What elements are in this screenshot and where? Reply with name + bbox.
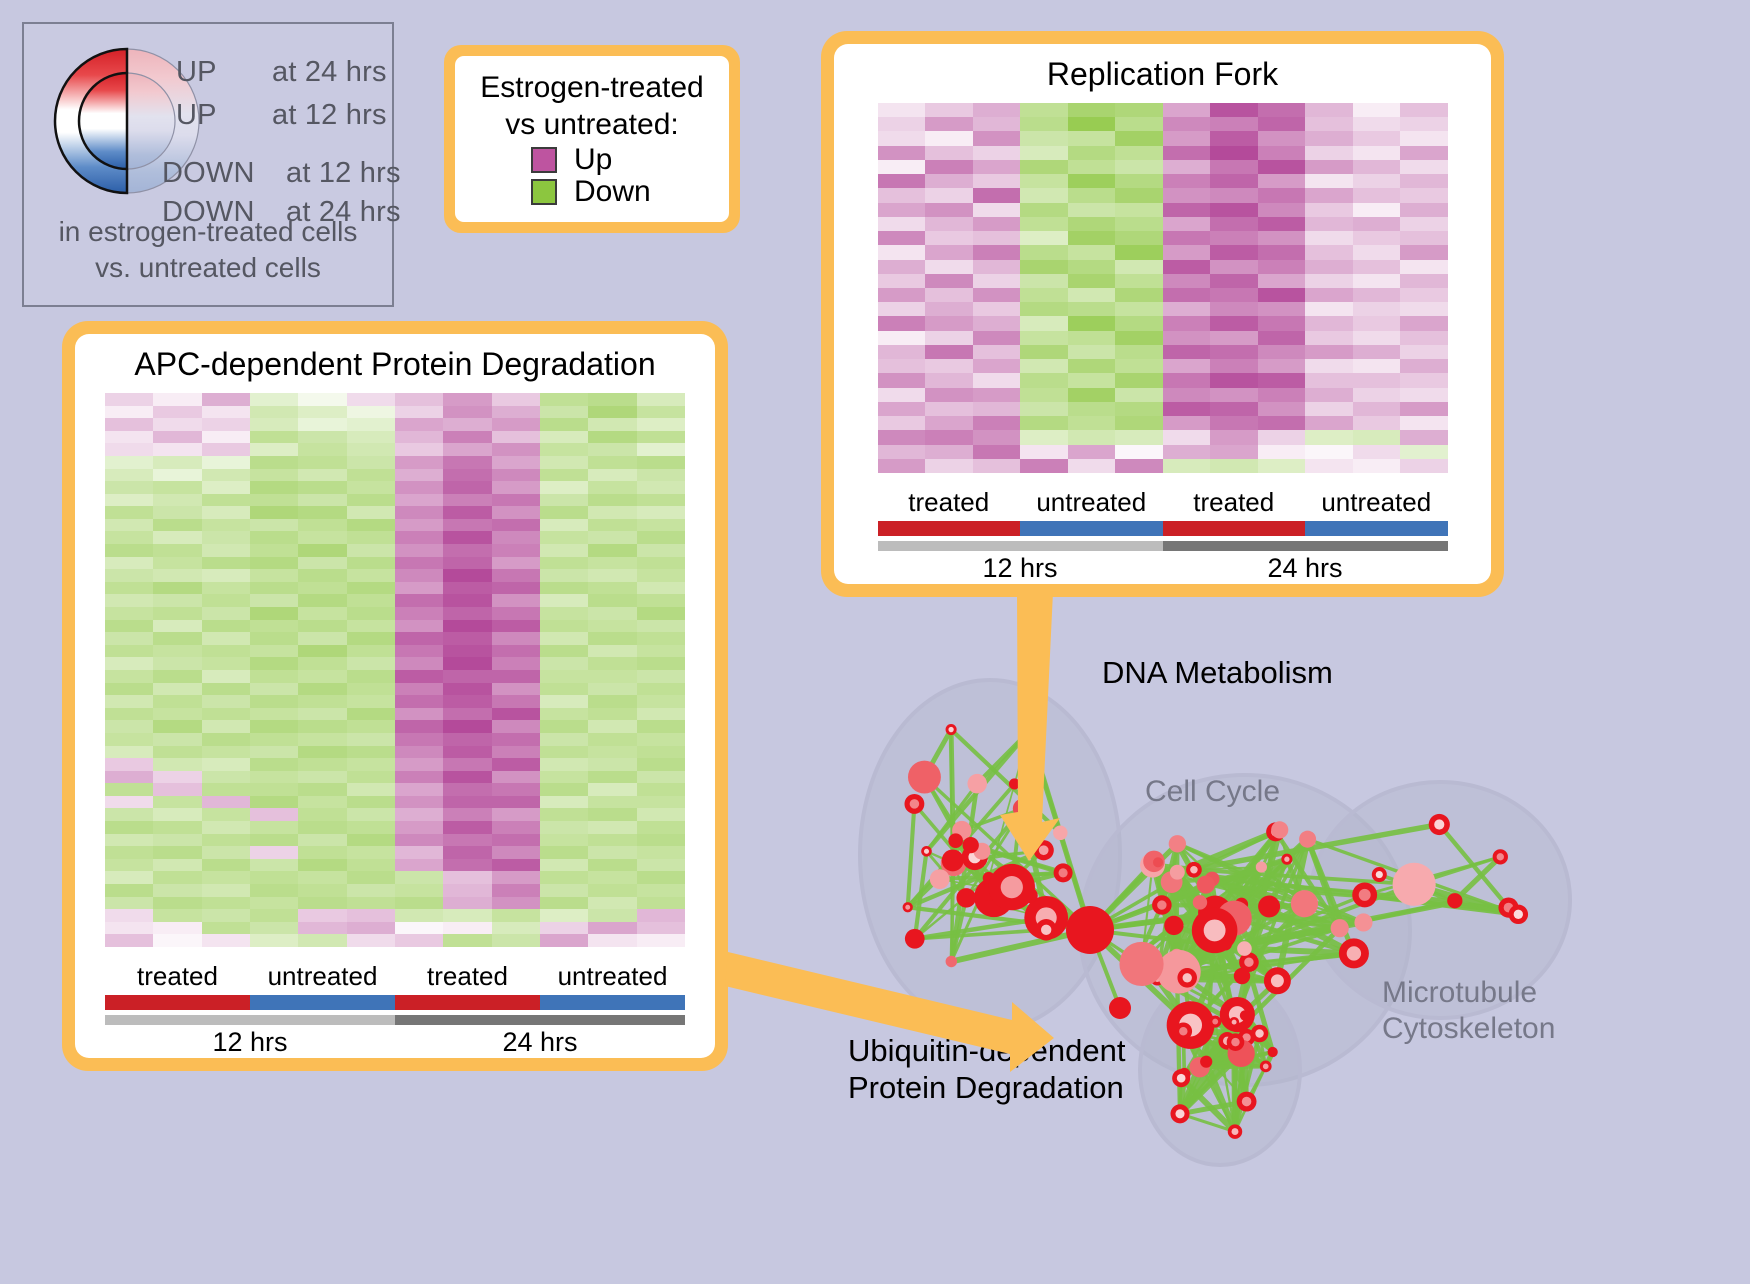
heatmap-cell (1020, 331, 1068, 345)
heatmap-cell (1115, 131, 1163, 145)
network-node-core (1232, 1020, 1237, 1025)
heatmap-cell (105, 909, 153, 922)
heatmap-cell (1305, 217, 1353, 231)
heatmap-cell (1163, 416, 1211, 430)
color-key-footnote-line2: vs. untreated cells (24, 250, 392, 286)
heatmap-cell (250, 506, 298, 519)
heatmap-cell (347, 431, 395, 444)
heatmap-cell (1210, 288, 1258, 302)
network-node (1234, 968, 1250, 984)
heatmap-cell (1305, 103, 1353, 117)
heatmap-cell (250, 632, 298, 645)
heatmap-cell (925, 131, 973, 145)
heatmap-cell (1115, 174, 1163, 188)
heatmap-cell (202, 859, 250, 872)
heatmap-cell (1115, 117, 1163, 131)
heatmap-cell (540, 695, 588, 708)
heatmap-replication-fork (878, 103, 1448, 473)
heatmap-cell (1068, 288, 1116, 302)
heatmap-cell (347, 796, 395, 809)
heatmap-cell (347, 834, 395, 847)
heatmap-cell (1068, 388, 1116, 402)
heatmap-cell (878, 203, 926, 217)
heatmap-cell (347, 683, 395, 696)
heatmap-cell (588, 771, 636, 784)
heatmap-cell (1163, 203, 1211, 217)
heatmap-cell (153, 393, 201, 406)
heatmap-cell (395, 607, 443, 620)
condition-label-rf-2: treated (1163, 487, 1306, 518)
heatmap-cell (637, 909, 685, 922)
heatmap-cell (1400, 416, 1448, 430)
heatmap-cell (540, 582, 588, 595)
heatmap-cell (105, 720, 153, 733)
heatmap-cell (973, 373, 1021, 387)
heatmap-cell (395, 846, 443, 859)
heatmap-cell (492, 418, 540, 431)
heatmap-cell (540, 922, 588, 935)
network-node (1256, 861, 1267, 872)
heatmap-cell (153, 720, 201, 733)
heatmap-cell (540, 494, 588, 507)
heatmap-cell (1163, 359, 1211, 373)
network-node (905, 929, 925, 949)
heatmap-cell (298, 695, 346, 708)
heatmap-cell (1068, 274, 1116, 288)
heatmap-cell (1163, 231, 1211, 245)
heatmap-cell (1020, 359, 1068, 373)
network-node-core (1190, 866, 1198, 874)
heatmap-cell (298, 922, 346, 935)
heatmap-cell (347, 897, 395, 910)
legend-title-line2: vs untreated: (465, 107, 719, 144)
heatmap-cell (540, 783, 588, 796)
heatmap-cell (298, 733, 346, 746)
condition-label-apc-0: treated (105, 961, 250, 992)
heatmap-cell (492, 582, 540, 595)
heatmap-cell (202, 846, 250, 859)
heatmap-cell (395, 418, 443, 431)
heatmap-cell (878, 103, 926, 117)
condition-bar-apc-1 (250, 995, 395, 1010)
heatmap-cell (925, 416, 973, 430)
heatmap-cell (878, 445, 926, 459)
heatmap-cell (443, 469, 491, 482)
time-bar-rf-12 (878, 541, 1163, 551)
heatmap-cell (1210, 231, 1258, 245)
time-bar-rf-24 (1163, 541, 1448, 551)
heatmap-cell (250, 871, 298, 884)
heatmap-cell (395, 683, 443, 696)
heatmap-cell (878, 316, 926, 330)
heatmap-cell (1068, 245, 1116, 259)
heatmap-cell (1020, 231, 1068, 245)
heatmap-cell (540, 720, 588, 733)
heatmap-cell (973, 103, 1021, 117)
heatmap-cell (973, 459, 1021, 473)
heatmap-cell (1305, 174, 1353, 188)
heatmap-cell (492, 821, 540, 834)
heatmap-cell (540, 443, 588, 456)
heatmap-cell (1353, 402, 1401, 416)
heatmap-cell (105, 683, 153, 696)
heatmap-cell (1068, 231, 1116, 245)
heatmap-cell (1115, 203, 1163, 217)
heatmap-cell (443, 808, 491, 821)
heatmap-cell (492, 456, 540, 469)
time-bar-apc-24 (395, 1015, 685, 1025)
legend-item-up: Up (531, 145, 719, 175)
heatmap-cell (153, 746, 201, 759)
heatmap-cell (492, 494, 540, 507)
cluster-label-ubiquitin-protein-degradation: Ubiquitin-dependent Protein Degradation (848, 1032, 1126, 1106)
heatmap-cell (1020, 174, 1068, 188)
heatmap-cell (105, 897, 153, 910)
heatmap-cell (105, 544, 153, 557)
heatmap-cell (153, 670, 201, 683)
key-time-up-24: at 24 hrs (272, 56, 387, 89)
condition-bar-rf-1 (1020, 521, 1163, 536)
heatmap-cell (395, 481, 443, 494)
heatmap-cell (153, 569, 201, 582)
network-node (1119, 942, 1163, 986)
key-label-down-12: DOWN (162, 157, 255, 190)
heatmap-cell (588, 746, 636, 759)
heatmap-cell (105, 594, 153, 607)
heatmap-cell (1163, 245, 1211, 259)
heatmap-cell (588, 607, 636, 620)
heatmap-cell (395, 531, 443, 544)
heatmap-cell (1210, 445, 1258, 459)
heatmap-cell (588, 582, 636, 595)
time-bar-rf (878, 541, 1448, 551)
network-node (1169, 835, 1186, 852)
heatmap-cell (588, 796, 636, 809)
heatmap-cell (250, 695, 298, 708)
heatmap-cell (298, 746, 346, 759)
heatmap-cell (588, 494, 636, 507)
network-node (1354, 913, 1372, 931)
network-node-core (1376, 871, 1383, 878)
heatmap-cell (153, 406, 201, 419)
heatmap-cell (1258, 146, 1306, 160)
heatmap-cell (153, 620, 201, 633)
heatmap-cell (443, 632, 491, 645)
heatmap-cell (250, 406, 298, 419)
heatmap-cell (443, 871, 491, 884)
heatmap-cell (443, 519, 491, 532)
heatmap-cell (153, 758, 201, 771)
heatmap-cell (153, 683, 201, 696)
heatmap-cell (443, 607, 491, 620)
condition-label-apc-2: treated (395, 961, 540, 992)
heatmap-cell (1258, 445, 1306, 459)
heatmap-cell (540, 746, 588, 759)
heatmap-cell (202, 783, 250, 796)
network-node-core (1175, 1109, 1184, 1118)
heatmap-cell (492, 544, 540, 557)
heatmap-cell (105, 846, 153, 859)
heatmap-cell (1210, 245, 1258, 259)
heatmap-cell (540, 909, 588, 922)
heatmap-cell (1210, 416, 1258, 430)
heatmap-cell (105, 481, 153, 494)
heatmap-cell (878, 302, 926, 316)
heatmap-cell (1068, 160, 1116, 174)
heatmap-cell (1400, 288, 1448, 302)
heatmap-cell (925, 445, 973, 459)
heatmap-cell (1353, 373, 1401, 387)
heatmap-cell (443, 758, 491, 771)
heatmap-cell (588, 708, 636, 721)
heatmap-cell (1400, 131, 1448, 145)
heatmap-cell (540, 708, 588, 721)
heatmap-cell (925, 160, 973, 174)
heatmap-cell (1353, 288, 1401, 302)
heatmap-cell (1210, 402, 1258, 416)
heatmap-cell (973, 345, 1021, 359)
heatmap-cell (250, 922, 298, 935)
heatmap-cell (1115, 302, 1163, 316)
time-labels-rf: 12 hrs 24 hrs (878, 553, 1448, 584)
heatmap-cell (153, 657, 201, 670)
heatmap-cell (298, 569, 346, 582)
condition-bar-rf-0 (878, 521, 1021, 536)
heatmap-cell (637, 393, 685, 406)
heatmap-cell (1210, 359, 1258, 373)
heatmap-cell (347, 443, 395, 456)
heatmap-cell (588, 519, 636, 532)
heatmap-cell (298, 897, 346, 910)
heatmap-cell (153, 834, 201, 847)
heatmap-cell (540, 557, 588, 570)
network-node (1200, 1056, 1212, 1068)
color-key-box: UP at 24 hrs UP at 12 hrs DOWN at 12 hrs… (22, 22, 394, 307)
heatmap-cell (395, 733, 443, 746)
heatmap-cell (153, 821, 201, 834)
heatmap-cell (202, 746, 250, 759)
heatmap-cell (1020, 217, 1068, 231)
heatmap-cell (250, 783, 298, 796)
network-node-core (1514, 910, 1523, 919)
heatmap-cell (1115, 402, 1163, 416)
heatmap-cell (925, 117, 973, 131)
heatmap-cell (540, 859, 588, 872)
heatmap-cell (1258, 302, 1306, 316)
heatmap-cell (1210, 103, 1258, 117)
heatmap-cell (395, 519, 443, 532)
heatmap-cell (540, 657, 588, 670)
heatmap-cell (1068, 217, 1116, 231)
heatmap-cell (588, 834, 636, 847)
heatmap-cell (1210, 146, 1258, 160)
heatmap-cell (202, 607, 250, 620)
heatmap-cell (298, 531, 346, 544)
heatmap-cell (395, 834, 443, 847)
heatmap-cell (973, 160, 1021, 174)
heatmap-cell (588, 456, 636, 469)
network-node-core (1177, 1074, 1186, 1083)
heatmap-cell (878, 430, 926, 444)
heatmap-cell (925, 331, 973, 345)
heatmap-cell (347, 909, 395, 922)
network-node-core (1232, 1128, 1239, 1135)
heatmap-cell (588, 557, 636, 570)
heatmap-cell (1400, 316, 1448, 330)
heatmap-cell (1210, 160, 1258, 174)
heatmap-cell (395, 544, 443, 557)
heatmap-cell (395, 821, 443, 834)
heatmap-cell (637, 683, 685, 696)
heatmap-cell (250, 934, 298, 947)
heatmap-cell (1210, 174, 1258, 188)
heatmap-cell (298, 884, 346, 897)
heatmap-cell (1353, 388, 1401, 402)
heatmap-cell (443, 531, 491, 544)
heatmap-cell (395, 720, 443, 733)
heatmap-cell (492, 645, 540, 658)
heatmap-cell (298, 645, 346, 658)
heatmap-cell (973, 302, 1021, 316)
heatmap-cell (443, 569, 491, 582)
heatmap-apc-dependent (105, 393, 685, 947)
heatmap-cell (540, 632, 588, 645)
heatmap-cell (395, 494, 443, 507)
heatmap-cell (637, 544, 685, 557)
heatmap-cell (588, 406, 636, 419)
heatmap-cell (973, 146, 1021, 160)
heatmap-cell (298, 456, 346, 469)
heatmap-cell (298, 632, 346, 645)
heatmap-cell (1020, 188, 1068, 202)
heatmap-cell (637, 708, 685, 721)
heatmap-cell (973, 117, 1021, 131)
heatmap-cell (105, 746, 153, 759)
heatmap-cell (1068, 316, 1116, 330)
time-label-rf-12: 12 hrs (878, 553, 1163, 584)
heatmap-cell (105, 406, 153, 419)
heatmap-cell (153, 934, 201, 947)
heatmap-cell (925, 388, 973, 402)
heatmap-cell (1163, 316, 1211, 330)
heatmap-cell (298, 934, 346, 947)
heatmap-cell (105, 657, 153, 670)
heatmap-cell (105, 393, 153, 406)
heatmap-cell (492, 670, 540, 683)
heatmap-cell (1258, 416, 1306, 430)
heatmap-cell (878, 274, 926, 288)
network-node-core (1039, 845, 1049, 855)
heatmap-cell (1353, 302, 1401, 316)
heatmap-cell (540, 594, 588, 607)
heatmap-cell (492, 531, 540, 544)
heatmap-cell (588, 670, 636, 683)
heatmap-cell (250, 494, 298, 507)
heatmap-cell (443, 909, 491, 922)
heatmap-cell (250, 393, 298, 406)
heatmap-cell (973, 331, 1021, 345)
network-node-core (1271, 974, 1284, 987)
heatmap-cell (105, 506, 153, 519)
heatmap-cell (1400, 245, 1448, 259)
heatmap-cell (540, 519, 588, 532)
legend-title: Estrogen-treated vs untreated: (465, 70, 719, 143)
heatmap-cell (925, 217, 973, 231)
heatmap-cell (1020, 416, 1068, 430)
legend-swatch-down (531, 179, 557, 205)
heatmap-cell (298, 582, 346, 595)
heatmap-cell (588, 846, 636, 859)
heatmap-cell (443, 834, 491, 847)
heatmap-cell (443, 494, 491, 507)
heatmap-cell (443, 695, 491, 708)
heatmap-cell (637, 733, 685, 746)
heatmap-cell (395, 620, 443, 633)
heatmap-cell (1115, 288, 1163, 302)
heatmap-cell (492, 569, 540, 582)
heatmap-cell (347, 771, 395, 784)
condition-label-apc-1: untreated (250, 961, 395, 992)
heatmap-cell (153, 708, 201, 721)
heatmap-cell (973, 203, 1021, 217)
heatmap-cell (347, 934, 395, 947)
heatmap-cell (202, 909, 250, 922)
heatmap-cell (492, 808, 540, 821)
heatmap-cell (492, 469, 540, 482)
panel-title-replication-fork: Replication Fork (1047, 56, 1278, 93)
heatmap-cell (1305, 274, 1353, 288)
heatmap-cell (395, 469, 443, 482)
heatmap-cell (492, 506, 540, 519)
heatmap-cell (637, 796, 685, 809)
heatmap-cell (1400, 302, 1448, 316)
heatmap-cell (925, 203, 973, 217)
heatmap-cell (105, 733, 153, 746)
network-node (967, 774, 987, 794)
heatmap-cell (1068, 416, 1116, 430)
heatmap-cell (1163, 345, 1211, 359)
heatmap-cell (153, 922, 201, 935)
heatmap-cell (202, 594, 250, 607)
network-node (908, 761, 941, 794)
heatmap-cell (1400, 217, 1448, 231)
network-node-core (924, 849, 929, 854)
heatmap-cell (588, 758, 636, 771)
heatmap-cell (492, 884, 540, 897)
heatmap-cell (588, 393, 636, 406)
network-node (1193, 895, 1207, 909)
heatmap-cell (1305, 345, 1353, 359)
heatmap-cell (973, 174, 1021, 188)
heatmap-cell (105, 783, 153, 796)
heatmap-cell (1115, 188, 1163, 202)
heatmap-cell (540, 821, 588, 834)
network-node (1018, 721, 1039, 742)
heatmap-cell (395, 670, 443, 683)
heatmap-cell (1020, 245, 1068, 259)
heatmap-cell (250, 431, 298, 444)
heatmap-cell (1305, 131, 1353, 145)
heatmap-cell (637, 746, 685, 759)
heatmap-cell (588, 443, 636, 456)
heatmap-cell (105, 771, 153, 784)
heatmap-cell (153, 544, 201, 557)
heatmap-cell (1210, 217, 1258, 231)
heatmap-cell (492, 632, 540, 645)
heatmap-cell (1258, 231, 1306, 245)
heatmap-cell (925, 402, 973, 416)
heatmap-cell (347, 670, 395, 683)
